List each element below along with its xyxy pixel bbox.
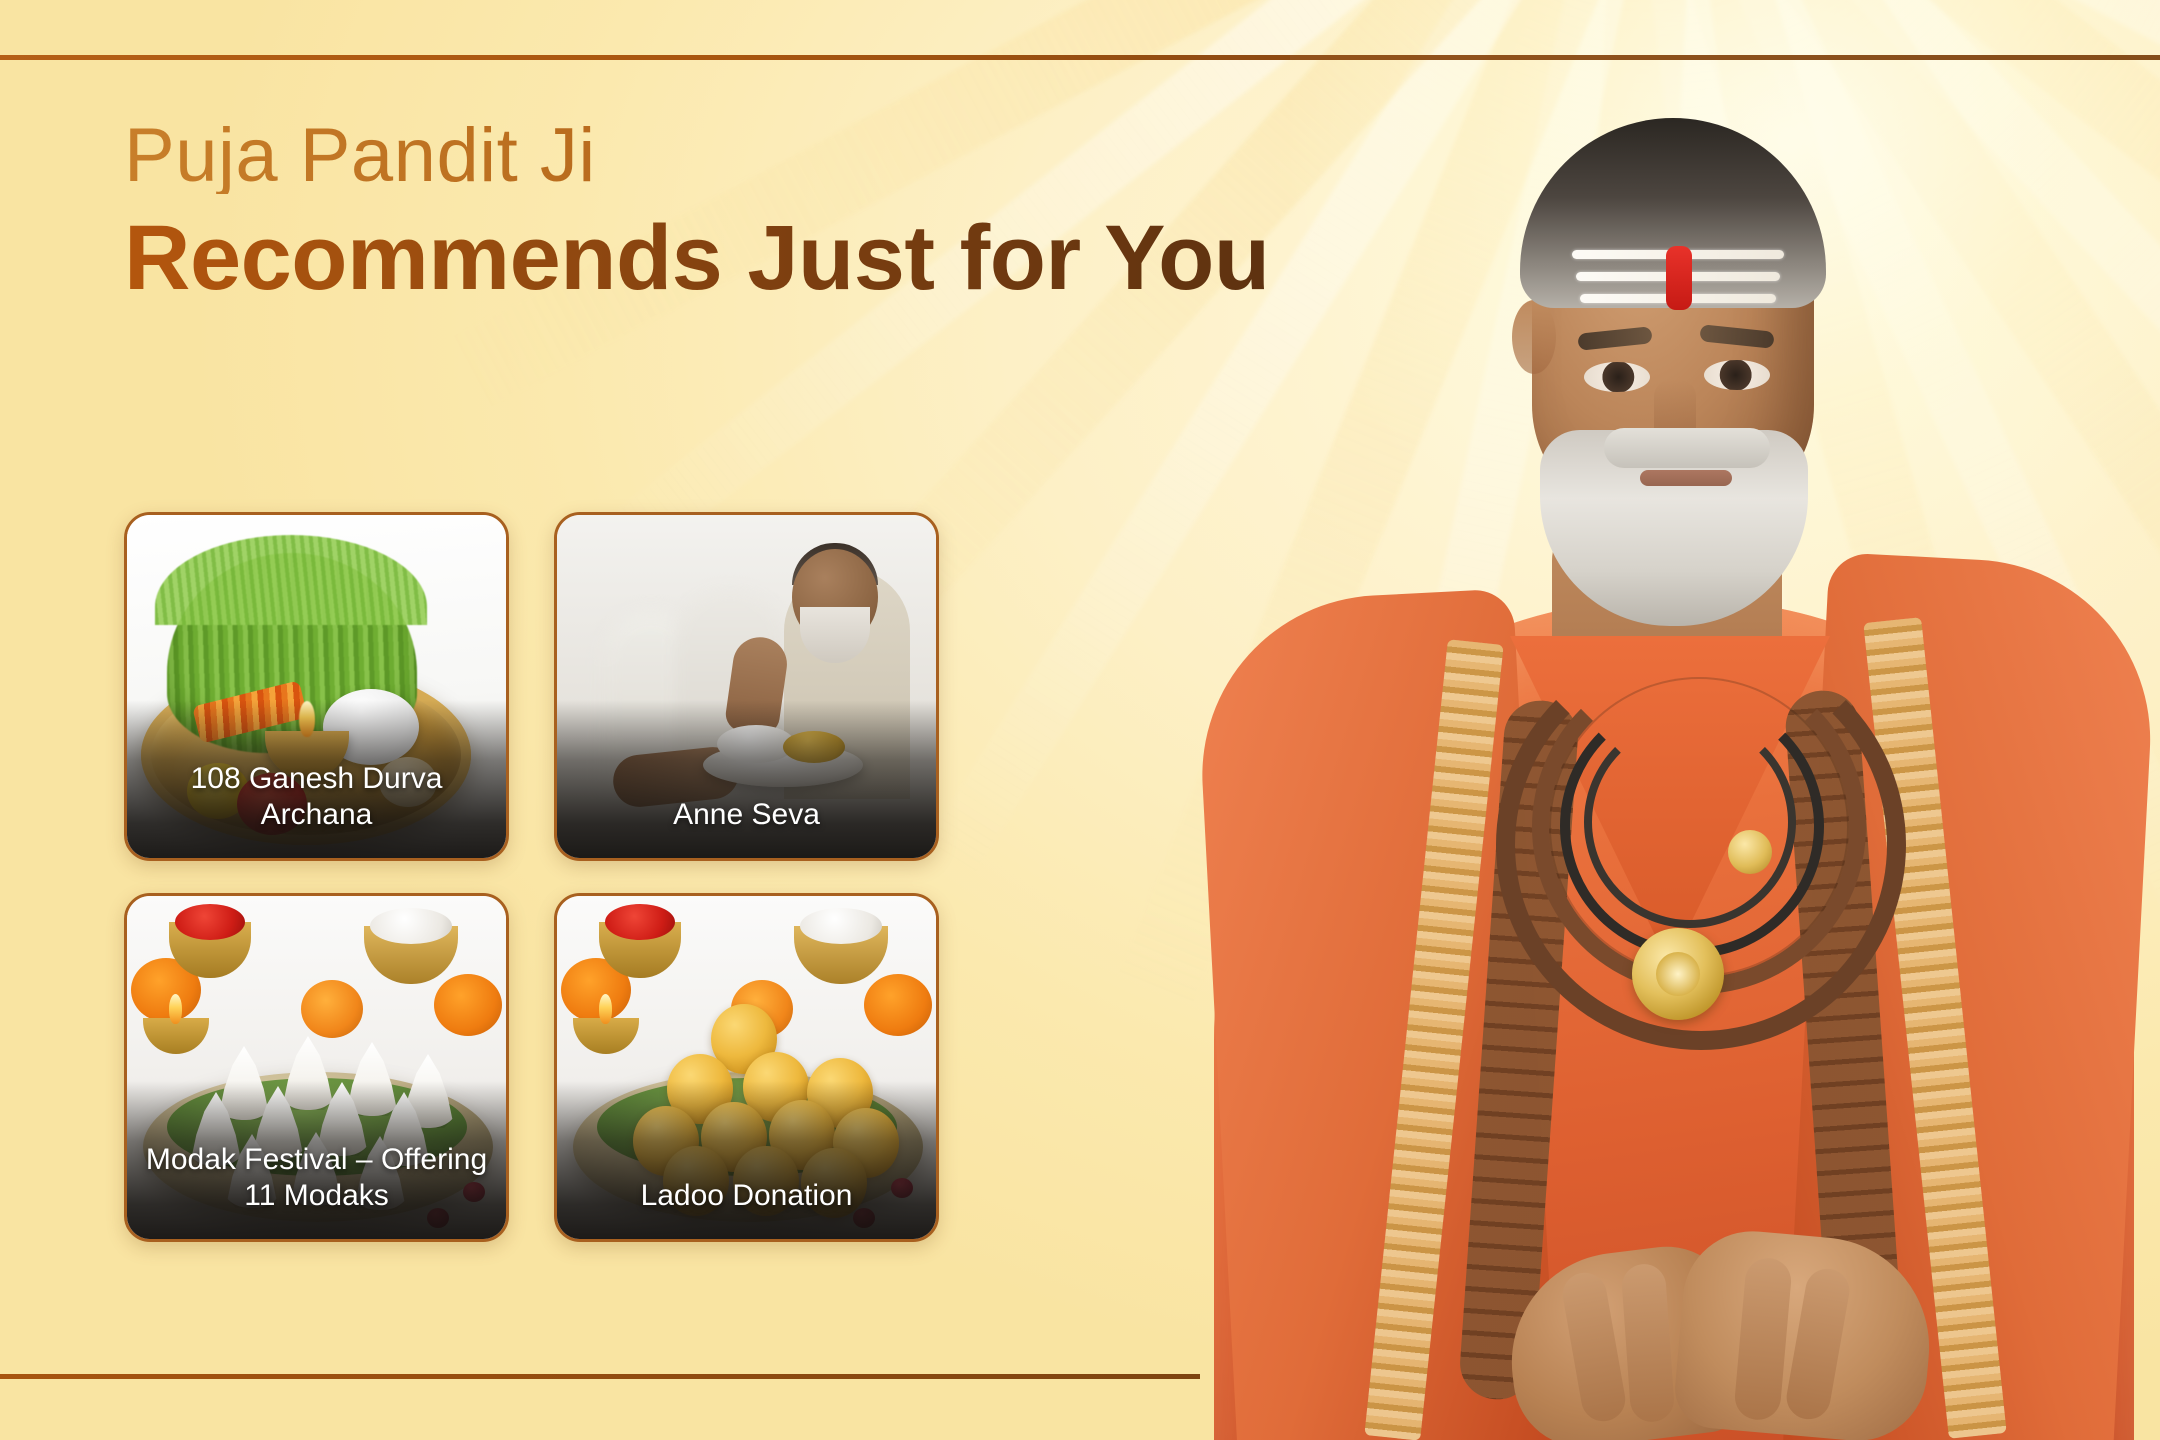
recommendation-card[interactable]: Modak Festival – Offering 11 Modaks — [124, 893, 509, 1242]
headline-line-2: Recommends Just for You — [124, 210, 1270, 307]
card-label: Modak Festival – Offering 11 Modaks — [139, 1142, 494, 1213]
card-label: Ladoo Donation — [569, 1178, 924, 1213]
card-label: 108 Ganesh Durva Archana — [139, 761, 494, 832]
recommendation-card[interactable]: Ladoo Donation — [554, 893, 939, 1242]
card-label: Anne Seva — [569, 797, 924, 832]
card-gradient-overlay — [557, 700, 936, 858]
recommendation-card[interactable]: 108 Ganesh Durva Archana — [124, 512, 509, 861]
pandit-portrait — [1180, 0, 2160, 1440]
top-divider-rule — [0, 55, 1290, 60]
red-tilak-mark — [1666, 246, 1692, 310]
gold-pendant-icon — [1632, 928, 1724, 1020]
promo-banner: Puja Pandit Ji Recommends Just for You 1… — [0, 0, 2160, 1440]
headline-line-1: Puja Pandit Ji — [124, 118, 1270, 194]
headline-block: Puja Pandit Ji Recommends Just for You — [124, 118, 1270, 307]
bottom-divider-rule — [0, 1374, 1200, 1379]
card-gradient-overlay — [557, 1081, 936, 1239]
recommendation-card-grid: 108 Ganesh Durva Archana Anne Seva — [124, 512, 939, 1242]
recommendation-card[interactable]: Anne Seva — [554, 512, 939, 861]
